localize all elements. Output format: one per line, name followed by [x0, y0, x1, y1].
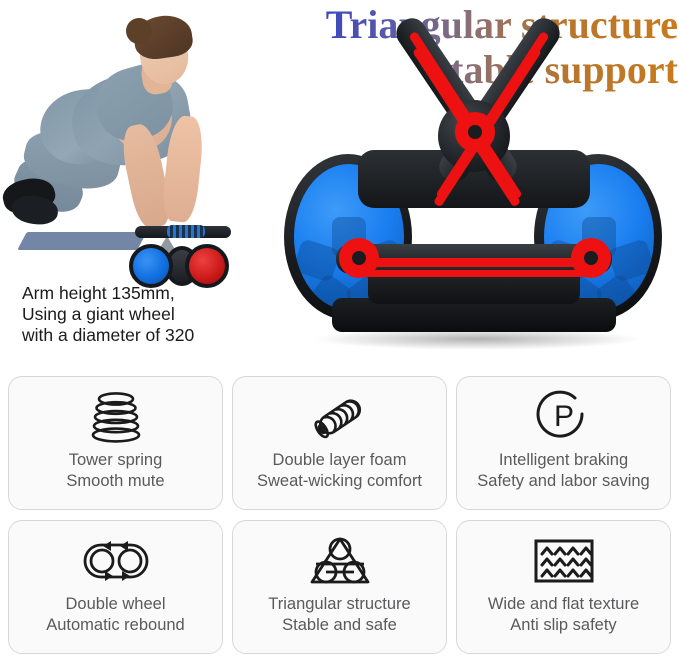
- feature-line-2: Safety and labor saving: [477, 471, 649, 492]
- red-triangle-overlay: [272, 92, 676, 364]
- feature-card-text: Triangular structure Stable and safe: [268, 594, 410, 635]
- caption-line-2: Using a giant wheel: [22, 304, 272, 325]
- feature-line-1: Intelligent braking: [477, 450, 649, 471]
- feature-card-text: Double layer foam Sweat-wicking comfort: [257, 450, 422, 491]
- caption-line-3: with a diameter of 320: [22, 325, 272, 346]
- mini-roller-wheel-red: [185, 244, 229, 288]
- feature-card-intelligent-braking[interactable]: P Intelligent braking Safety and labor s…: [456, 376, 671, 510]
- feature-line-1: Double layer foam: [257, 450, 422, 471]
- feature-line-1: Double wheel: [46, 594, 185, 615]
- foam-roller-icon: [305, 388, 375, 446]
- feature-line-1: Tower spring: [66, 450, 164, 471]
- model-hair-bun: [126, 18, 152, 44]
- feature-card-grid: Tower spring Smooth mute: [8, 376, 671, 654]
- feature-card-text: Wide and flat texture Anti slip safety: [488, 594, 639, 635]
- feature-line-2: Automatic rebound: [46, 615, 185, 636]
- red-hub-bottom-left: [339, 238, 379, 278]
- feature-card-wide-flat-texture[interactable]: Wide and flat texture Anti slip safety: [456, 520, 671, 654]
- parking-brake-p-icon: P: [535, 388, 593, 446]
- feature-line-1: Triangular structure: [268, 594, 410, 615]
- red-edge-bottom-inner: [354, 270, 598, 277]
- mini-roller-grip: [167, 225, 205, 238]
- feature-line-2: Anti slip safety: [488, 615, 639, 636]
- red-hub-top: [455, 112, 495, 152]
- caption-line-1: Arm height 135mm,: [22, 283, 272, 304]
- product-photo: [272, 92, 676, 364]
- feature-card-tower-spring[interactable]: Tower spring Smooth mute: [8, 376, 223, 510]
- feature-line-2: Stable and safe: [268, 615, 410, 636]
- triangle-three-circles-icon: [307, 532, 373, 590]
- tread-texture-icon: [529, 532, 599, 590]
- svg-text:P: P: [553, 400, 573, 433]
- feature-card-double-layer-foam[interactable]: Double layer foam Sweat-wicking comfort: [232, 376, 447, 510]
- mini-roller-wheel-blue: [129, 244, 173, 288]
- coil-spring-icon: [85, 388, 147, 446]
- feature-line-1: Wide and flat texture: [488, 594, 639, 615]
- infographic-canvas: Triangular structure stable support Arm …: [0, 0, 679, 670]
- feature-line-2: Smooth mute: [66, 471, 164, 492]
- feature-card-text: Tower spring Smooth mute: [66, 450, 164, 491]
- red-hub-bottom-right: [571, 238, 611, 278]
- feature-card-triangular-structure[interactable]: Triangular structure Stable and safe: [232, 520, 447, 654]
- double-wheel-loop-icon: [79, 532, 153, 590]
- feature-line-2: Sweat-wicking comfort: [257, 471, 422, 492]
- feature-card-double-wheel[interactable]: Double wheel Automatic rebound: [8, 520, 223, 654]
- red-edge-bottom: [354, 258, 598, 267]
- spec-caption: Arm height 135mm, Using a giant wheel wi…: [22, 283, 272, 346]
- feature-card-text: Double wheel Automatic rebound: [46, 594, 185, 635]
- model-photo: [0, 4, 240, 294]
- feature-card-text: Intelligent braking Safety and labor sav…: [477, 450, 649, 491]
